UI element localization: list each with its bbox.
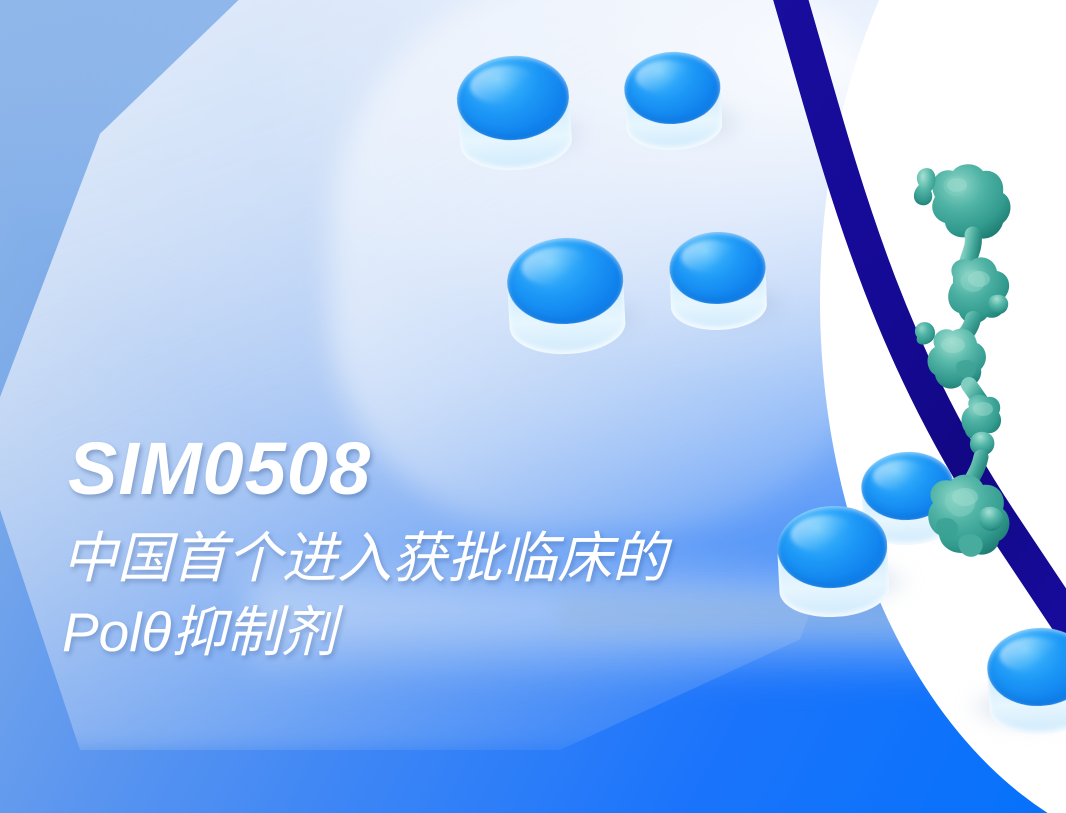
protein-domain-1 [914, 164, 1011, 238]
tablet-mid-left [505, 235, 627, 357]
protein-domain-4 [962, 395, 1002, 456]
page-subtitle: 中国首个进入获批临床的 Polθ抑制剂 [62, 522, 882, 669]
tablet-mid-right [668, 230, 767, 331]
title-block: SIM0508 中国首个进入获批临床的 Polθ抑制剂 [62, 432, 882, 669]
poster-root: SIM0508 中国首个进入获批临床的 Polθ抑制剂 [0, 0, 1066, 813]
protein-domain-5 [928, 475, 1009, 557]
tablet-bottom-right [985, 625, 1066, 736]
subtitle-line-2: Polθ抑制剂 [62, 596, 882, 670]
subtitle-line-1: 中国首个进入获批临床的 [62, 522, 882, 596]
tablet-top-right [623, 50, 724, 153]
page-title: SIM0508 [68, 432, 882, 506]
tablet-top-left [454, 52, 574, 174]
protein-structure [895, 155, 1055, 570]
